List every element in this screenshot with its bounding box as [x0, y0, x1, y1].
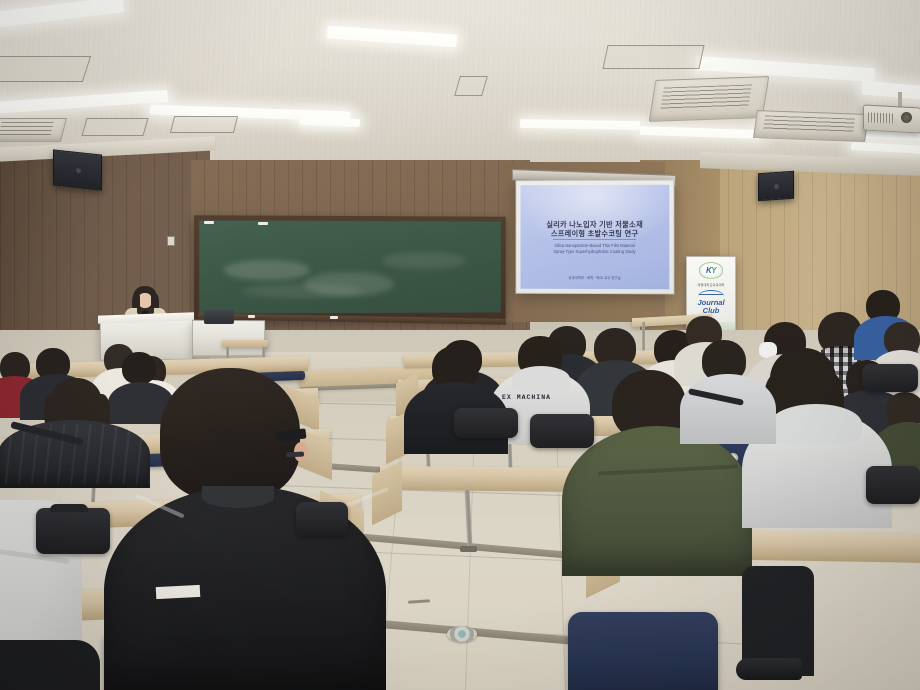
- slide-title-line2: 스프레이형 초발수코팅 연구: [551, 229, 638, 239]
- air-conditioner-grill: [660, 84, 752, 111]
- hood: [512, 366, 570, 392]
- slide-subtitle-line2: Spray-Type Superhydrophobic Coating Stud…: [554, 249, 636, 254]
- chalk-piece: [330, 316, 338, 319]
- backpack: [454, 408, 518, 438]
- ceiling-vent: [170, 116, 238, 133]
- backpack: [862, 364, 918, 392]
- chair: [568, 612, 718, 690]
- speaker-dot: [76, 168, 81, 174]
- wall-speaker-right: [758, 171, 794, 202]
- projection-screen: 실리카 나노입자 기반 저물소재 스프레이형 초발수코팅 연구 Silica N…: [516, 180, 675, 295]
- chalk-piece: [248, 315, 255, 318]
- chalk-piece: [258, 222, 268, 225]
- speaker-dot: [774, 184, 779, 189]
- desk-leg-foot: [460, 546, 477, 552]
- banner-org-name: 계명대학교의과대학: [697, 282, 724, 287]
- ceiling-vent: [454, 76, 488, 96]
- backpack: [36, 508, 110, 554]
- open-book-icon: [698, 290, 724, 298]
- shoe: [736, 658, 802, 680]
- slide-content: 실리카 나노입자 기반 저물소재 스프레이형 초발수코팅 연구 Silica N…: [521, 185, 670, 290]
- collar: [202, 486, 274, 508]
- backpack: [866, 466, 920, 504]
- chalkboard-surface: [199, 220, 501, 313]
- ceiling-vent: [602, 45, 704, 69]
- air-conditioner-grill: [763, 115, 855, 133]
- floor-outlet-port: [447, 626, 477, 642]
- chalkboard: [194, 215, 506, 320]
- air-conditioner-grill: [0, 122, 54, 136]
- torso-hoodie: [680, 374, 776, 444]
- paper: [156, 585, 201, 599]
- ky-logo-text: KY: [706, 266, 716, 275]
- wall-socket: [167, 236, 175, 246]
- ky-logo-icon: KY: [699, 262, 723, 279]
- ceiling-vent: [81, 118, 148, 136]
- projector-vent: [868, 112, 894, 123]
- front-stool-seat: [222, 340, 268, 347]
- projector-lens: [901, 112, 912, 123]
- backpack: [530, 414, 594, 448]
- presenter-face: [138, 293, 152, 308]
- slide-divider: [553, 239, 636, 240]
- slide-subtitle-line1: Silica Nanoparticle-Based Thin Film Mate…: [554, 243, 634, 248]
- chalk-piece: [204, 221, 214, 224]
- backpack-strap: [50, 504, 88, 512]
- hoodie-text: EX MACHINA: [502, 394, 551, 401]
- podium-monitor: [204, 310, 234, 324]
- wall-speaker-left: [53, 149, 102, 190]
- slide-title-line1: 실리카 나노입자 기반 저물소재: [546, 220, 643, 230]
- phone: [286, 452, 304, 458]
- slide-footer: 공과대학부 · 화학 · 박00 교수 연구실: [521, 275, 670, 280]
- hood: [770, 404, 862, 444]
- dark-trousers: [0, 640, 100, 690]
- puffer-quilting: [0, 424, 150, 484]
- table-leg: [642, 322, 645, 354]
- torso-green-jacket: [562, 426, 752, 576]
- backpack: [296, 502, 348, 536]
- ceiling-vent: [0, 56, 91, 82]
- lecture-hall-photo: 실리카 나노입자 기반 저물소재 스프레이형 초발수코팅 연구 Silica N…: [0, 0, 920, 690]
